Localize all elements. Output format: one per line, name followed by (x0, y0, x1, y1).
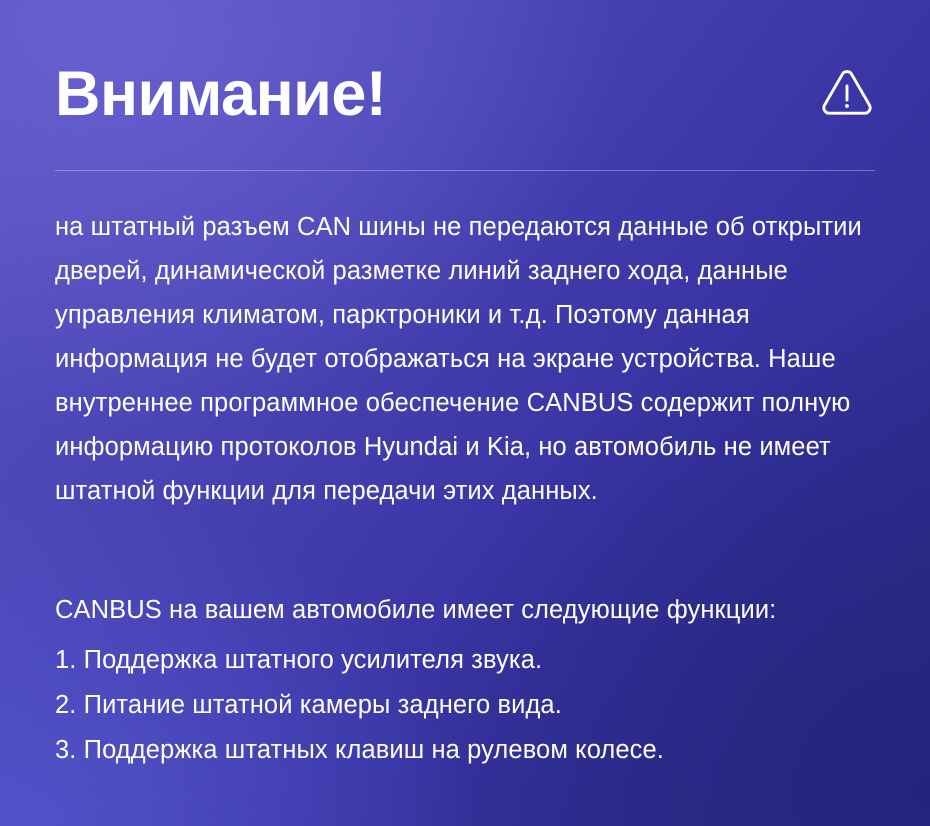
header-divider (55, 170, 875, 171)
banner-header: Внимание! (55, 48, 875, 140)
page-title: Внимание! (55, 48, 386, 140)
list-item: 2. Питание штатной камеры заднего вида. (55, 683, 885, 728)
warning-notice-banner: Внимание! на штатный разъем CAN шины не … (0, 0, 930, 826)
notice-body: на штатный разъем CAN шины не передаются… (55, 205, 881, 513)
features-intro: CANBUS на вашем автомобиле имеет следующ… (55, 588, 885, 632)
list-item: 3. Поддержка штатных клавиш на рулевом к… (55, 728, 885, 773)
warning-triangle-icon (819, 64, 875, 120)
notice-paragraph: на штатный разъем CAN шины не передаются… (55, 205, 881, 513)
list-item: 1. Поддержка штатного усилителя звука. (55, 638, 885, 683)
features-section: CANBUS на вашем автомобиле имеет следующ… (55, 588, 885, 773)
features-list: 1. Поддержка штатного усилителя звука. 2… (55, 638, 885, 773)
